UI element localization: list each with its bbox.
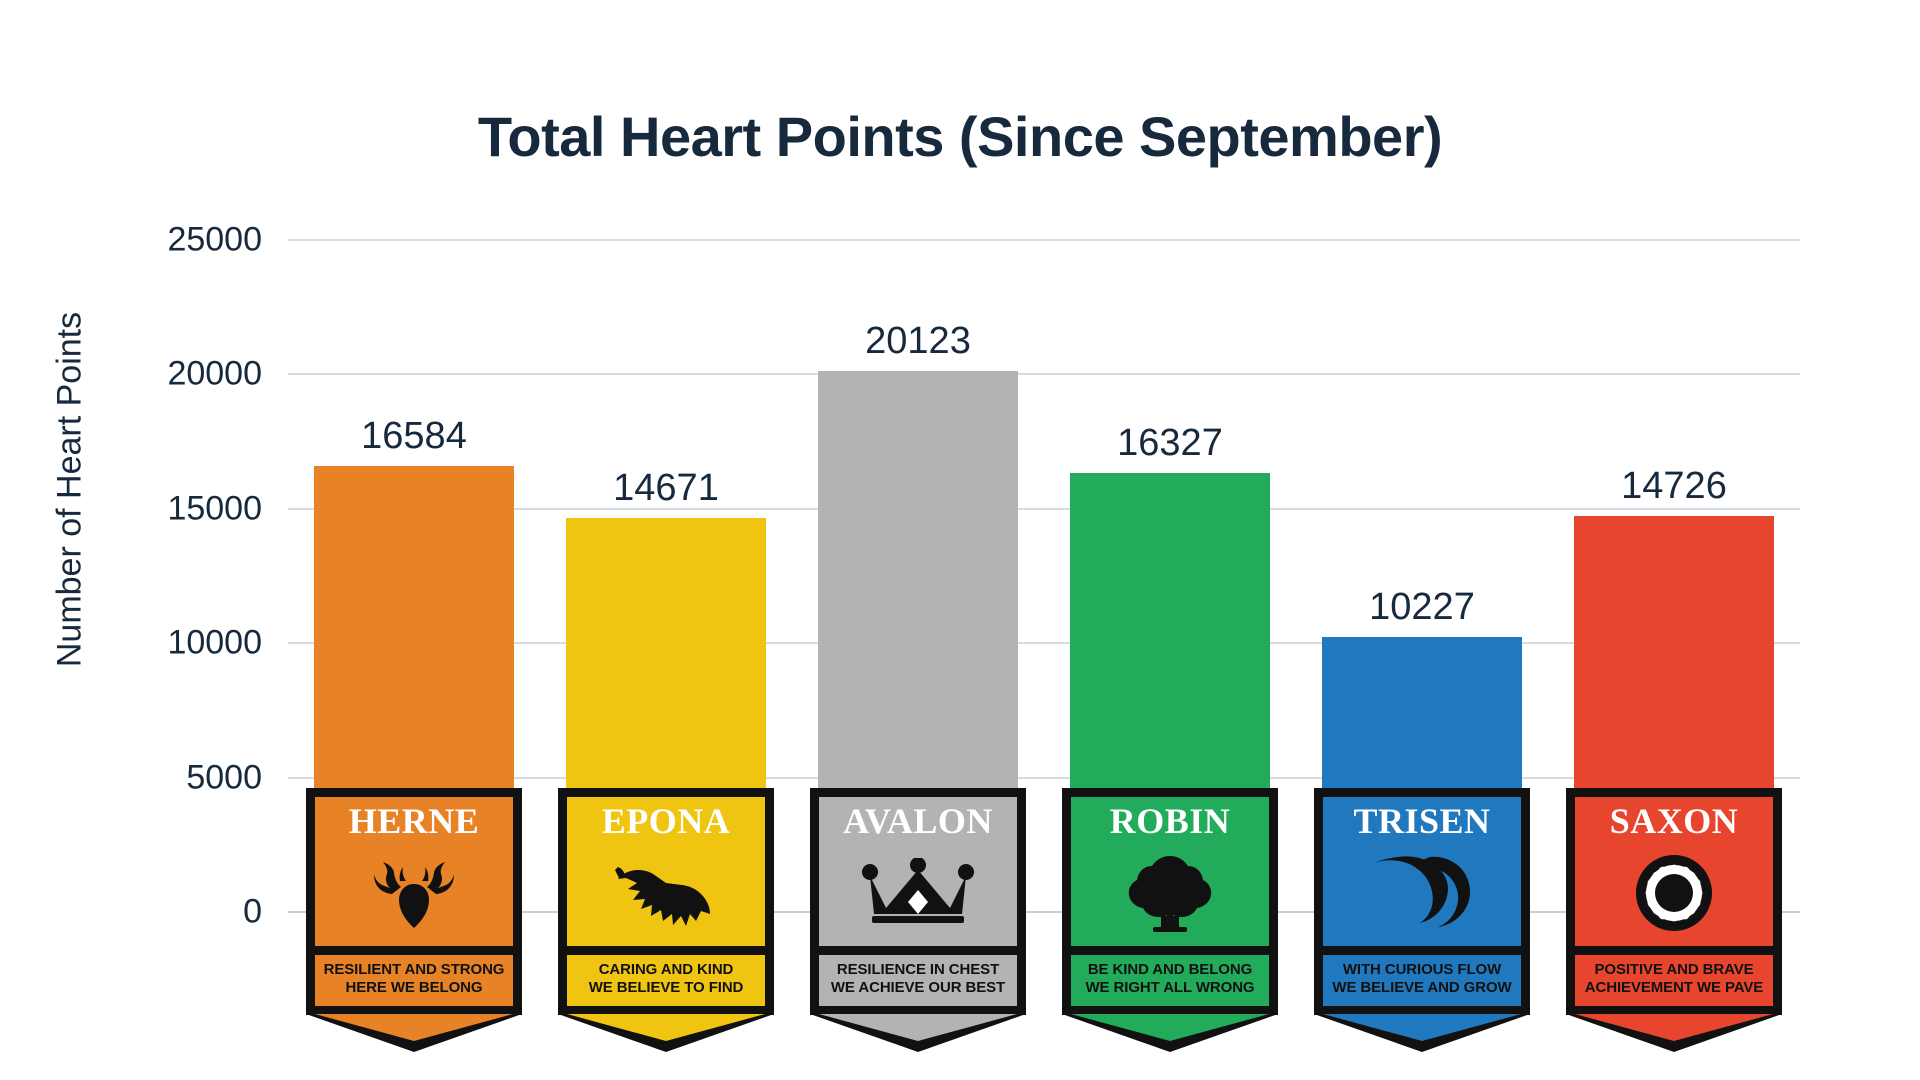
y-axis-tick: 5000 — [110, 758, 262, 797]
tree-icon — [1071, 840, 1269, 945]
chart-canvas: Total Heart Points (Since September) Num… — [0, 0, 1920, 1080]
motto-line-2: WE BELIEVE TO FIND — [571, 979, 761, 998]
bar-value-label: 16584 — [314, 415, 514, 458]
cog-icon — [1628, 852, 1720, 934]
crest-point — [1566, 1014, 1782, 1050]
bar-series: 16584HERNE RESILIENT AND STRONGHERE WE B… — [288, 240, 1800, 912]
stag-icon — [315, 840, 513, 945]
crest-banner: EPONA — [558, 788, 774, 946]
motto-line-2: WE BELIEVE AND GROW — [1327, 979, 1517, 998]
house-motto: RESILIENCE IN CHESTWE ACHIEVE OUR BEST — [810, 946, 1026, 1016]
house-name: SAXON — [1610, 803, 1739, 841]
motto-line-1: BE KIND AND BELONG — [1075, 961, 1265, 980]
y-axis-tick: 10000 — [110, 624, 262, 663]
bar-value-label: 14671 — [566, 467, 766, 510]
crest-banner: AVALON — [810, 788, 1026, 946]
bar-group-robin[interactable]: 16327ROBIN BE KIND AND BELONGWE RIGHT AL… — [1070, 240, 1270, 912]
motto-line-1: RESILIENT AND STRONG — [319, 961, 509, 980]
crest-banner: SAXON — [1566, 788, 1782, 946]
bar-group-saxon[interactable]: 14726SAXON POSITI — [1574, 240, 1774, 912]
crest-banner: TRISEN — [1314, 788, 1530, 946]
crest-banner: HERNE — [306, 788, 522, 946]
motto-line-2: HERE WE BELONG — [319, 979, 509, 998]
bar-group-avalon[interactable]: 20123AVALON RESILIENCE IN CHESTWE ACHIEV… — [818, 240, 1018, 912]
bar-value-label: 10227 — [1322, 586, 1522, 629]
crest-point — [1314, 1014, 1530, 1050]
house-name: HERNE — [349, 803, 480, 841]
motto-line-1: POSITIVE AND BRAVE — [1579, 961, 1769, 980]
house-motto: WITH CURIOUS FLOWWE BELIEVE AND GROW — [1314, 946, 1530, 1016]
bar-group-epona[interactable]: 14671EPONA CARING AND KINDWE BELIEVE TO … — [566, 240, 766, 912]
motto-line-2: WE ACHIEVE OUR BEST — [823, 979, 1013, 998]
house-crest-herne[interactable]: HERNE RESILIENT AND STRONGHERE WE BELONG — [306, 788, 522, 1051]
cog-icon — [1575, 840, 1773, 945]
house-motto: RESILIENT AND STRONGHERE WE BELONG — [306, 946, 522, 1016]
house-motto: POSITIVE AND BRAVEACHIEVEMENT WE PAVE — [1566, 946, 1782, 1016]
bar-group-trisen[interactable]: 10227TRISEN WITH CURIOUS FLOWWE BELIEVE … — [1322, 240, 1522, 912]
wave-icon — [1323, 840, 1521, 945]
crown-icon — [819, 840, 1017, 945]
house-motto: CARING AND KINDWE BELIEVE TO FIND — [558, 946, 774, 1016]
tree-icon — [1115, 854, 1225, 932]
page-title: Total Heart Points (Since September) — [0, 104, 1920, 169]
crest-point — [1062, 1014, 1278, 1050]
bar-value-label: 16327 — [1070, 422, 1270, 465]
y-axis-tick: 15000 — [110, 489, 262, 528]
crest-point — [810, 1014, 1026, 1050]
motto-line-1: CARING AND KIND — [571, 961, 761, 980]
wave-icon — [1366, 855, 1478, 931]
house-crest-epona[interactable]: EPONA CARING AND KINDWE BELIEVE TO FIND — [558, 788, 774, 1051]
y-axis-tick: 25000 — [110, 221, 262, 260]
crest-banner: ROBIN — [1062, 788, 1278, 946]
horse-icon — [600, 857, 732, 929]
house-motto: BE KIND AND BELONGWE RIGHT ALL WRONG — [1062, 946, 1278, 1016]
motto-line-1: WITH CURIOUS FLOW — [1327, 961, 1517, 980]
motto-line-2: ACHIEVEMENT WE PAVE — [1579, 979, 1769, 998]
house-name: ROBIN — [1110, 803, 1231, 841]
house-name: AVALON — [843, 803, 993, 841]
crest-point — [306, 1014, 522, 1050]
house-name: TRISEN — [1353, 803, 1490, 841]
crown-icon — [858, 858, 978, 928]
motto-line-2: WE RIGHT ALL WRONG — [1075, 979, 1265, 998]
bar-group-herne[interactable]: 16584HERNE RESILIENT AND STRONGHERE WE B… — [314, 240, 514, 912]
crest-point — [558, 1014, 774, 1050]
house-name: EPONA — [602, 803, 731, 841]
bar-value-label: 14726 — [1574, 465, 1774, 508]
house-crest-trisen[interactable]: TRISEN WITH CURIOUS FLOWWE BELIEVE AND G… — [1314, 788, 1530, 1051]
house-crest-saxon[interactable]: SAXON POSITIVE AN — [1566, 788, 1782, 1051]
bar-value-label: 20123 — [818, 320, 1018, 363]
horse-icon — [567, 840, 765, 945]
y-axis-tick: 20000 — [110, 355, 262, 394]
house-crest-avalon[interactable]: AVALON RESILIENCE IN CHESTWE ACHIEVE OUR… — [810, 788, 1026, 1051]
stag-icon — [354, 854, 474, 932]
y-axis-tick: 0 — [110, 893, 262, 932]
y-axis-title: Number of Heart Points — [51, 280, 90, 700]
house-crest-robin[interactable]: ROBIN BE KIND AND BELONGWE RIGHT ALL WRO… — [1062, 788, 1278, 1051]
motto-line-1: RESILIENCE IN CHEST — [823, 961, 1013, 980]
